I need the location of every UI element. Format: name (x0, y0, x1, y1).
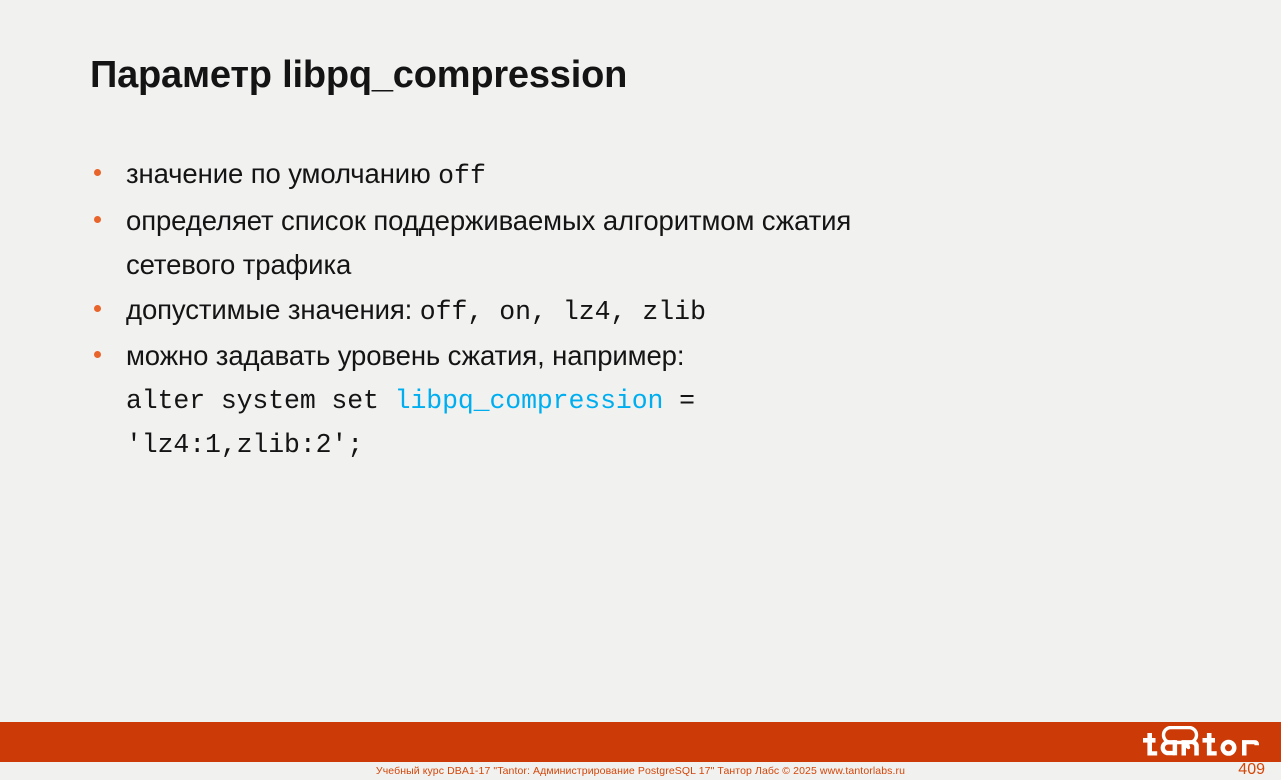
code-parameter-name: libpq_compression (395, 386, 664, 416)
list-item: допустимые значения: off, on, lz4, zlib (88, 288, 1218, 335)
page-title: Параметр libpq_compression (90, 54, 627, 97)
code-line-2: 'lz4:1,zlib:2'; (126, 423, 695, 468)
bullet-dot-icon (88, 199, 126, 223)
list-item-text: определяет список поддерживаемых алгорит… (126, 199, 851, 288)
list-item-text: можно задавать уровень сжатия, например:… (126, 334, 695, 468)
bullet-dot-icon (88, 334, 126, 358)
list-item-text: допустимые значения: off, on, lz4, zlib (126, 288, 706, 335)
bullet-1-label: значение по умолчанию (126, 158, 438, 189)
slide: Параметр libpq_compression значение по у… (0, 0, 1281, 780)
footer-bar (0, 722, 1281, 762)
bullet-1-value: off (438, 161, 486, 191)
tantor-logo (1141, 726, 1259, 760)
list-item: определяет список поддерживаемых алгорит… (88, 199, 1218, 288)
list-item: значение по умолчанию off (88, 152, 1218, 199)
bullet-dot-icon (88, 288, 126, 312)
footer-caption: Учебный курс DBA1-17 "Tantor: Администри… (0, 762, 1281, 780)
page-number: 409 (1238, 760, 1265, 780)
bullet-dot-icon (88, 152, 126, 176)
list-item: можно задавать уровень сжатия, например:… (88, 334, 1218, 468)
code-keyword-prefix: alter system set (126, 386, 395, 416)
bullet-2-line2: сетевого трафика (126, 243, 851, 288)
bullet-2-line1: определяет список поддерживаемых алгорит… (126, 199, 851, 244)
bullet-4-label: можно задавать уровень сжатия, например: (126, 334, 695, 379)
code-line-1: alter system set libpq_compression = (126, 379, 695, 424)
bullet-list: значение по умолчанию off определяет спи… (88, 152, 1218, 468)
list-item-text: значение по умолчанию off (126, 152, 486, 199)
bullet-3-label: допустимые значения: (126, 294, 420, 325)
code-operator: = (663, 386, 695, 416)
bullet-3-values: off, on, lz4, zlib (420, 297, 706, 327)
